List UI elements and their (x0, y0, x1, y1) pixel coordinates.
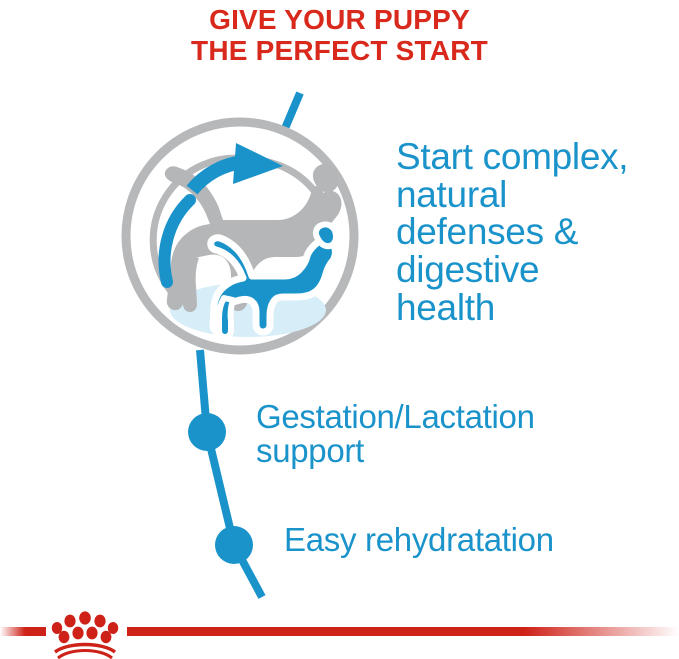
infographic-artwork (0, 0, 679, 659)
benefit-1-line-4: digestive (396, 251, 679, 289)
arrow-head (233, 143, 283, 184)
puppy-silhouette (211, 224, 336, 337)
connector-dot-gestation (188, 413, 226, 451)
dog-and-puppy-circle-icon (126, 122, 354, 350)
royal-canin-crown-logo (52, 611, 118, 658)
connector-dot-rehydratation (215, 526, 253, 564)
connector-line (200, 350, 262, 597)
benefit-1-line-1: Start complex, (396, 138, 679, 176)
page-title-line-2: THE PERFECT START (0, 35, 679, 66)
brand-bar-right (127, 627, 679, 636)
cycle-arrow-icon (165, 143, 283, 282)
page-title-line-1: GIVE YOUR PUPPY (0, 4, 679, 35)
ground-ellipse (170, 283, 326, 337)
benefit-gestation-lactation: Gestation/Lactation support (256, 400, 679, 467)
connector-line-top (278, 93, 300, 145)
benefit-easy-rehydratation: Easy rehydratation (284, 523, 679, 557)
benefit-2-line-1: Gestation/Lactation (256, 400, 679, 434)
royal-canin-brand-bar (0, 600, 679, 659)
icon-ring (126, 122, 354, 350)
arrow-tail-lower (165, 200, 190, 282)
benefit-3-line-1: Easy rehydratation (284, 523, 679, 557)
benefit-1-line-3: defenses & (396, 213, 679, 251)
benefit-start-complex: Start complex, natural defenses & digest… (396, 138, 679, 327)
timeline-connector (188, 350, 262, 597)
infographic-canvas: GIVE YOUR PUPPY THE PERFECT START (0, 0, 679, 659)
adult-dog-silhouette (165, 164, 342, 312)
benefit-2-line-2: support (256, 434, 679, 468)
cycle-arc (153, 158, 318, 290)
page-title: GIVE YOUR PUPPY THE PERFECT START (0, 4, 679, 66)
arrow-shaft (192, 162, 243, 190)
benefit-1-line-2: natural (396, 176, 679, 214)
benefit-1-line-5: health (396, 289, 679, 327)
brand-bar-left (0, 627, 46, 636)
